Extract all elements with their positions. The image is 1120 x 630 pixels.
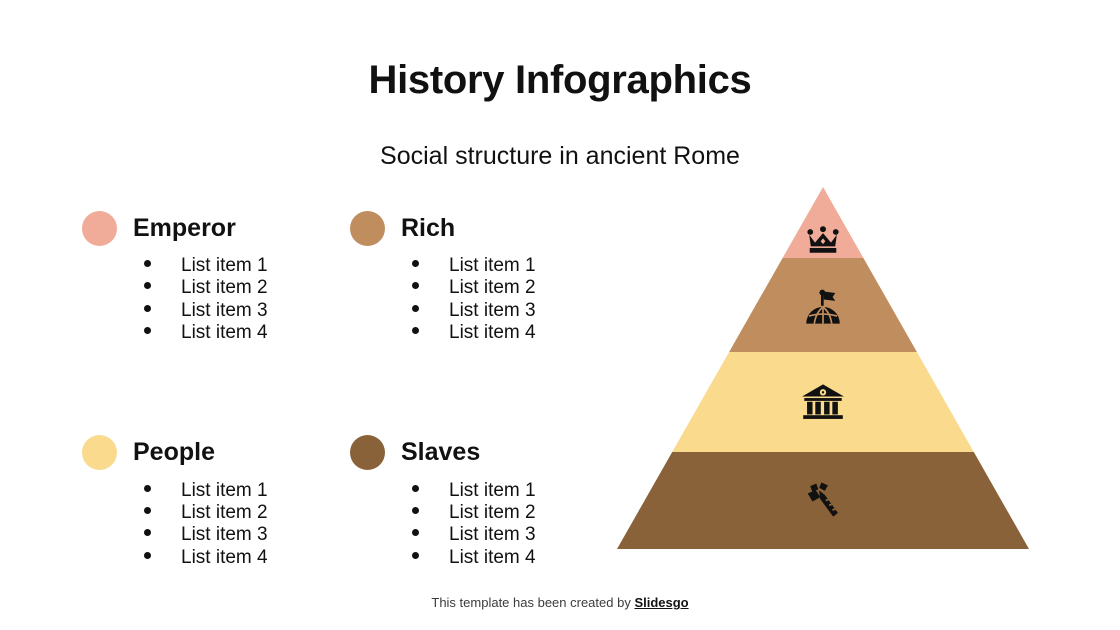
social-pyramid-chart [610,180,1040,560]
bullet-icon [412,485,419,492]
bullet-icon [144,507,151,514]
legend-item-list: List item 1 List item 2 List item 3 List… [350,480,618,570]
bullet-icon [144,305,151,312]
legend-header: Slaves [350,433,618,473]
legend-row-bottom: People List item 1 List item 2 List item… [82,433,622,570]
legend-grid: Emperor List item 1 List item 2 List ite… [82,208,622,569]
list-item-label: List item 2 [449,502,536,524]
legend-group-people[interactable]: People List item 1 List item 2 List item… [82,433,350,570]
legend-group-label: Rich [401,214,455,243]
list-item: List item 4 [412,322,618,344]
pyramid-tier-2[interactable] [729,258,917,352]
bullet-icon [412,507,419,514]
footer-credit: This template has been created by Slides… [0,595,1120,610]
list-item: List item 3 [144,300,350,322]
legend-group-label: People [133,438,215,467]
legend-header: People [82,433,350,473]
list-item-label: List item 4 [181,547,268,569]
legend-row-top: Emperor List item 1 List item 2 List ite… [82,208,622,345]
pyramid-tier-3[interactable] [672,352,974,452]
pyramid-tier-1[interactable] [783,187,864,258]
list-item-label: List item 1 [449,255,536,277]
color-dot-icon [82,211,117,246]
list-item: List item 1 [144,255,350,277]
legend-header: Emperor [82,208,350,248]
color-dot-icon [82,435,117,470]
pyramid-svg [610,180,1040,560]
bullet-icon [412,282,419,289]
list-item-label: List item 1 [181,255,268,277]
list-item: List item 2 [412,502,618,524]
list-item-label: List item 2 [181,277,268,299]
list-item: List item 4 [144,547,350,569]
bullet-icon [144,485,151,492]
list-item-label: List item 1 [181,480,268,502]
list-item-label: List item 3 [449,524,536,546]
legend-group-slaves[interactable]: Slaves List item 1 List item 2 List item… [350,433,618,570]
legend-item-list: List item 1 List item 2 List item 3 List… [350,255,618,345]
bullet-icon [144,529,151,536]
list-item-label: List item 2 [181,502,268,524]
bullet-icon [144,327,151,334]
bullet-icon [412,260,419,267]
list-item: List item 1 [412,255,618,277]
list-item-label: List item 3 [181,524,268,546]
bullet-icon [144,552,151,559]
list-item: List item 3 [412,300,618,322]
bullet-icon [144,282,151,289]
list-item: List item 1 [412,480,618,502]
list-item-label: List item 4 [181,322,268,344]
pyramid-tier-4[interactable] [617,452,1029,549]
legend-header: Rich [350,208,618,248]
legend-group-label: Emperor [133,214,236,243]
list-item: List item 4 [412,547,618,569]
bullet-icon [412,327,419,334]
slidesgo-link[interactable]: Slidesgo [634,595,688,610]
page-title: History Infographics [0,58,1120,103]
list-item: List item 4 [144,322,350,344]
legend-group-label: Slaves [401,438,480,467]
list-item: List item 3 [412,524,618,546]
page-subtitle: Social structure in ancient Rome [0,142,1120,171]
color-dot-icon [350,435,385,470]
list-item-label: List item 3 [449,300,536,322]
legend-item-list: List item 1 List item 2 List item 3 List… [82,480,350,570]
list-item: List item 1 [144,480,350,502]
list-item-label: List item 4 [449,322,536,344]
list-item: List item 3 [144,524,350,546]
list-item-label: List item 3 [181,300,268,322]
list-item-label: List item 1 [449,480,536,502]
list-item: List item 2 [144,502,350,524]
legend-item-list: List item 1 List item 2 List item 3 List… [82,255,350,345]
bullet-icon [144,260,151,267]
list-item: List item 2 [412,277,618,299]
legend-group-emperor[interactable]: Emperor List item 1 List item 2 List ite… [82,208,350,345]
list-item: List item 2 [144,277,350,299]
color-dot-icon [350,211,385,246]
bullet-icon [412,305,419,312]
list-item-label: List item 4 [449,547,536,569]
bullet-icon [412,529,419,536]
footer-text: This template has been created by [431,595,634,610]
legend-group-rich[interactable]: Rich List item 1 List item 2 List item 3 [350,208,618,345]
bullet-icon [412,552,419,559]
list-item-label: List item 2 [449,277,536,299]
